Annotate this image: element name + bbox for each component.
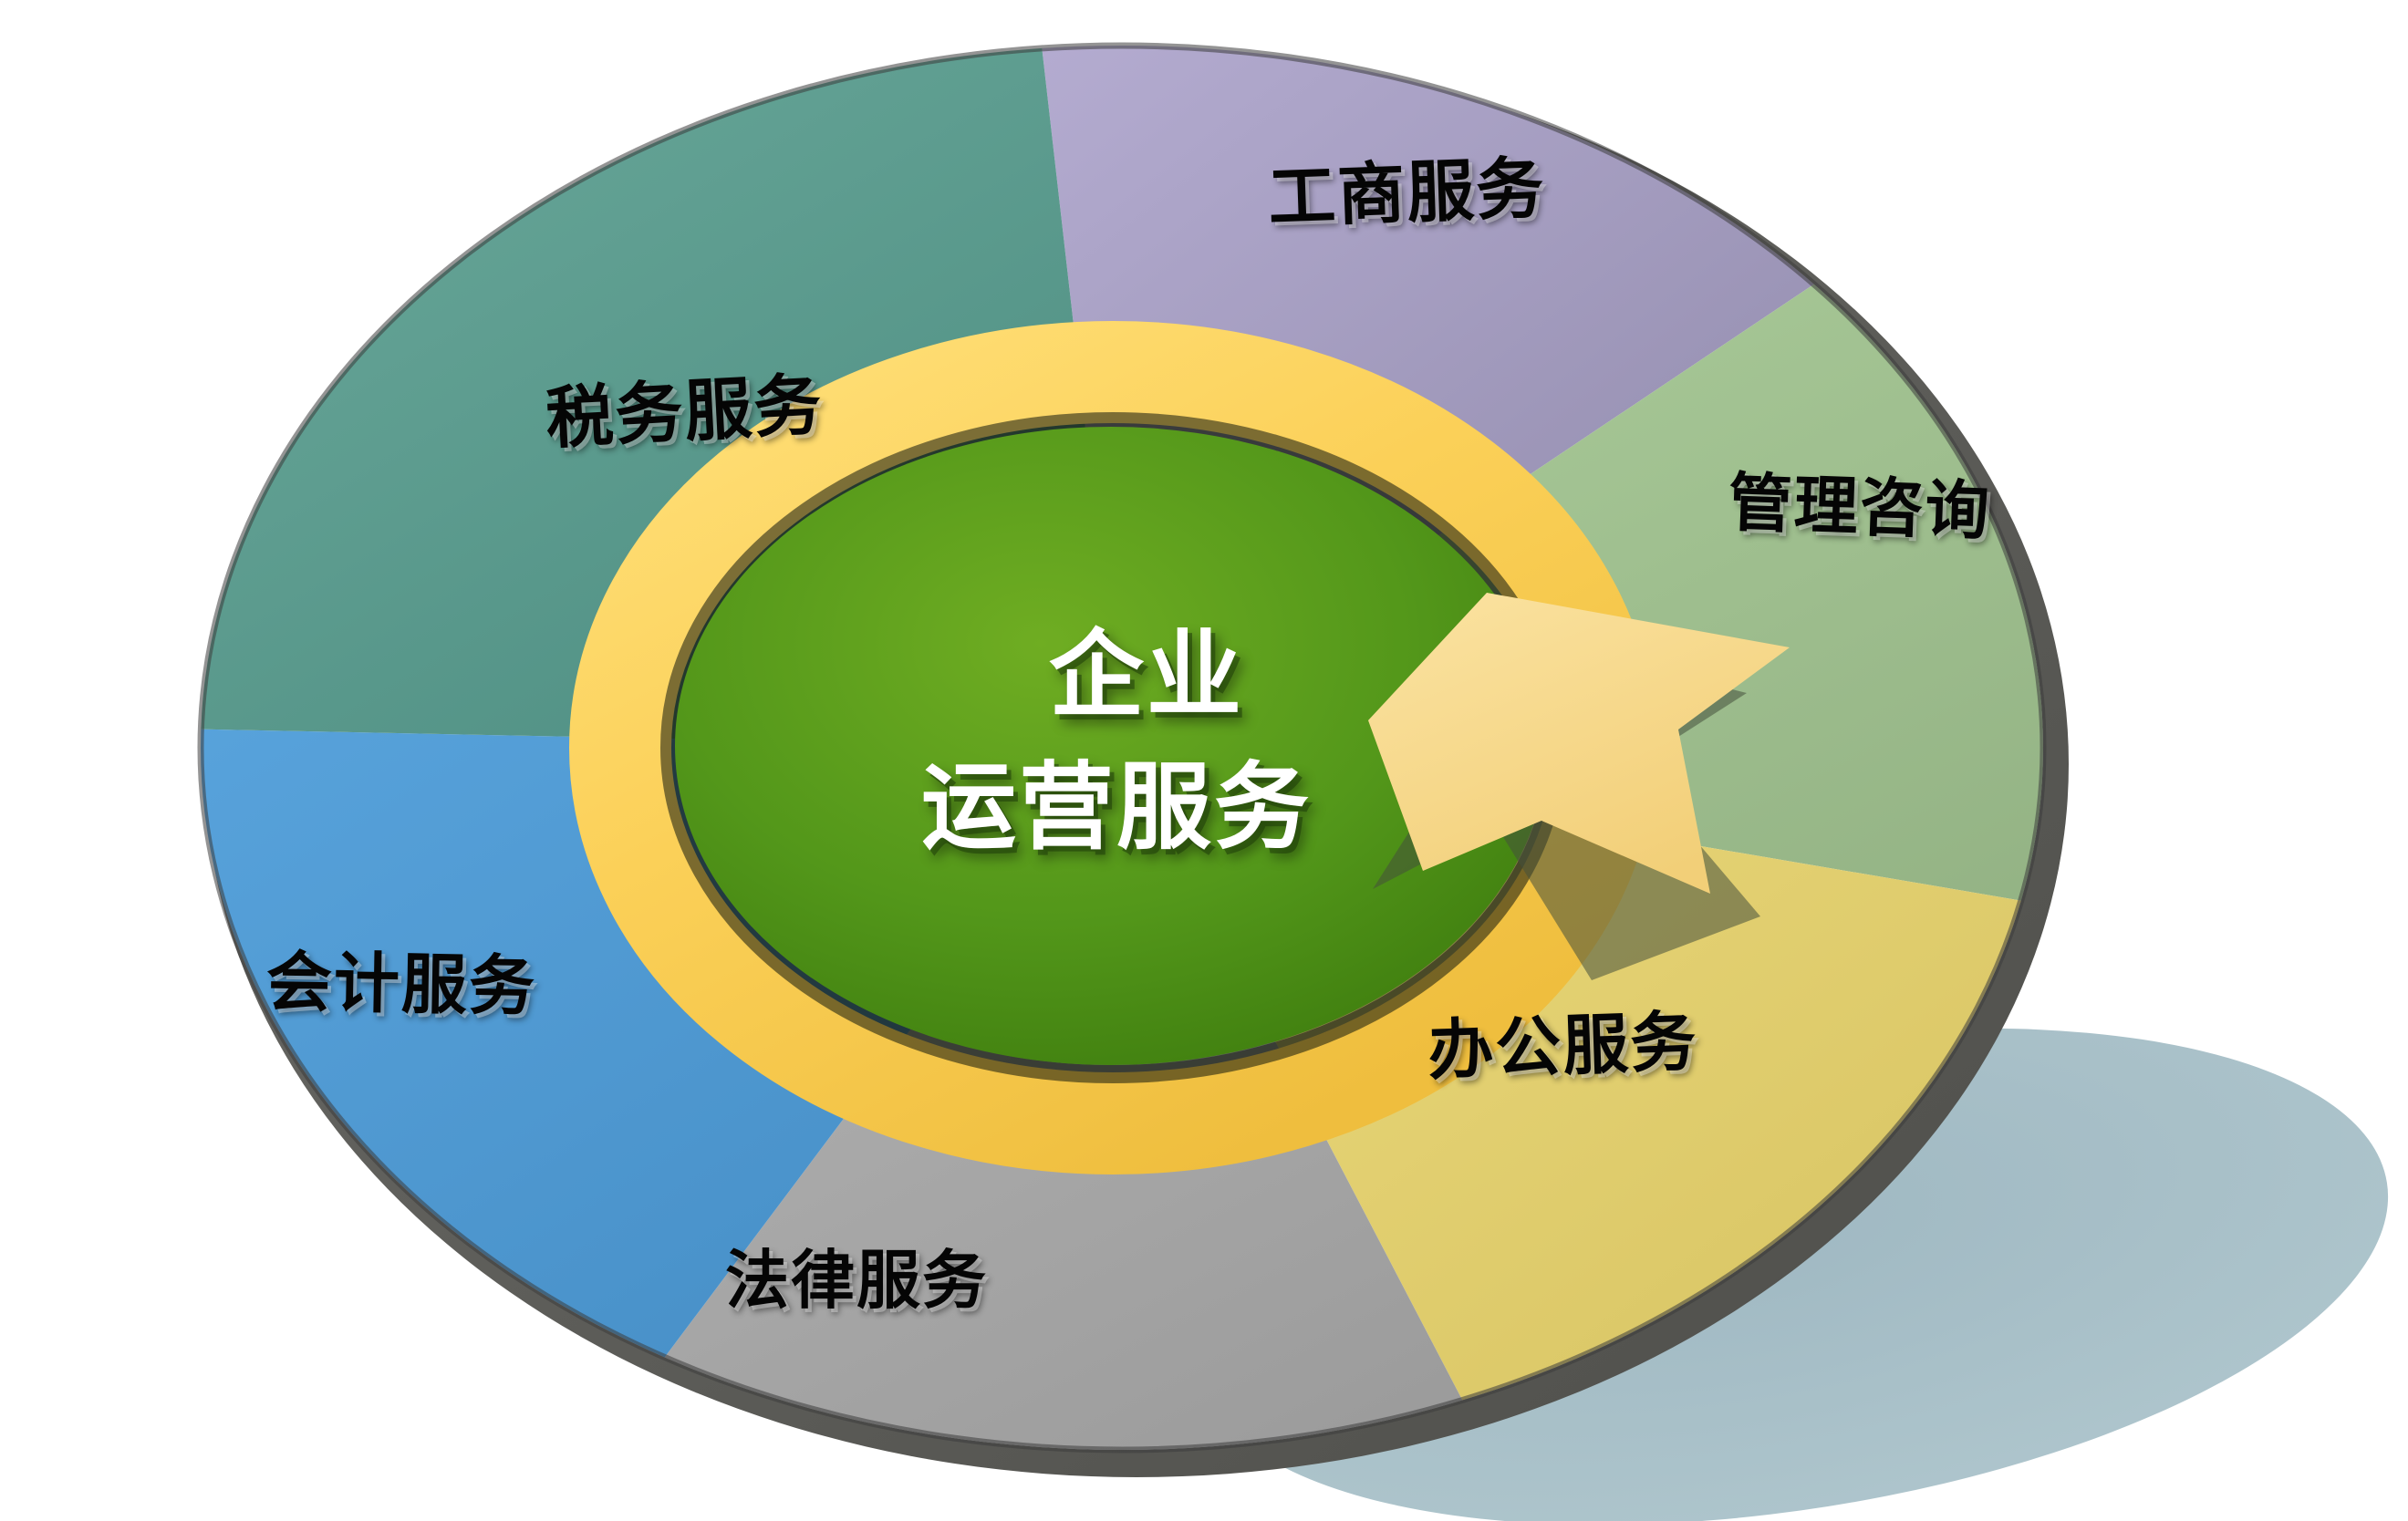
segment-label-accounting[interactable]: 会计服务 [265, 927, 537, 1028]
center-title-line1: 企业 [1049, 597, 1244, 735]
center-title-line2: 运营服务 [921, 729, 1312, 867]
diagram-canvas: 工商服务 管理咨询 办公服务 法律服务 会计服务 税务服务 企业 运营服务 [0, 0, 2408, 1521]
segment-label-tax[interactable]: 税务服务 [543, 350, 825, 462]
segment-label-legal[interactable]: 法律服务 [725, 1229, 988, 1321]
segment-label-management[interactable]: 管理咨询 [1727, 451, 1992, 553]
segment-label-business[interactable]: 工商服务 [1266, 134, 1547, 242]
segment-label-office[interactable]: 办公服务 [1426, 988, 1698, 1092]
